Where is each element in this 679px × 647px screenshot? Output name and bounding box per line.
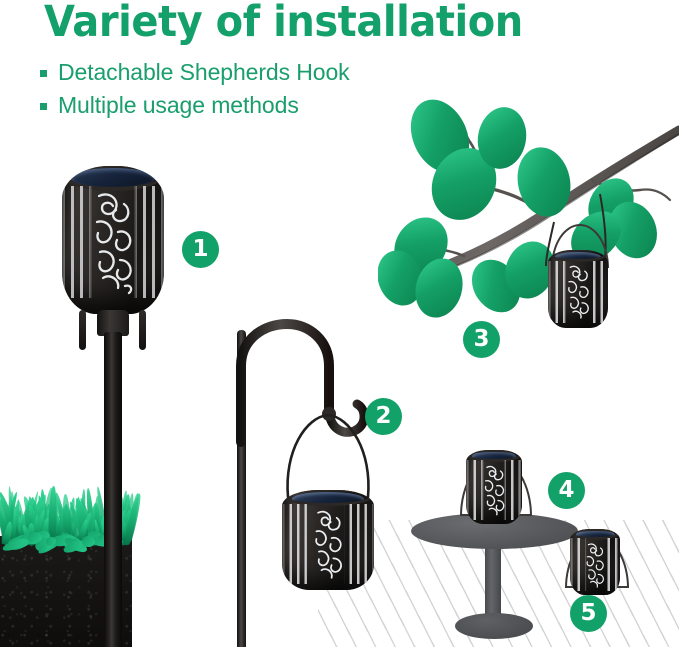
patio-table-base <box>455 613 533 639</box>
lantern-on-branch <box>548 250 608 328</box>
torch-fin <box>139 310 146 350</box>
square-bullet-icon <box>40 70 47 77</box>
torch-head <box>62 166 164 314</box>
lantern-on-table <box>466 450 522 524</box>
bullet-text: Detachable Shepherds Hook <box>58 59 350 86</box>
square-bullet-icon <box>40 103 47 110</box>
lantern-on-deck <box>570 529 620 595</box>
filigree-pattern <box>308 506 348 582</box>
filigree-pattern <box>91 188 135 296</box>
lantern-body-wrapper <box>282 490 374 590</box>
badge-number: 2 <box>375 403 391 429</box>
badge-number: 3 <box>473 326 489 352</box>
page-title: Variety of installation <box>44 0 523 48</box>
lantern-body <box>570 529 620 595</box>
lantern-body <box>282 490 374 590</box>
step-badge-5: 5 <box>570 595 607 632</box>
step-badge-2: 2 <box>365 398 402 435</box>
badge-number: 1 <box>192 236 208 262</box>
step-badge-1: 1 <box>182 231 219 268</box>
solar-torch-light <box>57 160 169 620</box>
badge-number: 5 <box>580 600 596 626</box>
filigree-pattern <box>482 462 507 518</box>
list-item: Detachable Shepherds Hook <box>40 56 460 89</box>
torch-pole <box>104 332 122 647</box>
torch-fin <box>79 310 86 350</box>
bullet-text: Multiple usage methods <box>58 92 299 119</box>
filigree-pattern <box>565 262 591 321</box>
step-badge-4: 4 <box>548 472 585 509</box>
lantern-body <box>548 250 608 328</box>
branch-illustration <box>378 88 679 328</box>
tree-branch-scene <box>378 88 679 328</box>
leaf-cluster <box>378 90 665 323</box>
step-badge-3: 3 <box>463 321 500 358</box>
filigree-pattern <box>584 540 606 590</box>
infographic-canvas: Variety of installation Detachable Sheph… <box>0 0 679 647</box>
lantern-on-shepherds-hook <box>272 405 384 590</box>
badge-number: 4 <box>558 477 574 503</box>
grass-clump <box>28 531 42 542</box>
lantern-body <box>466 450 522 524</box>
